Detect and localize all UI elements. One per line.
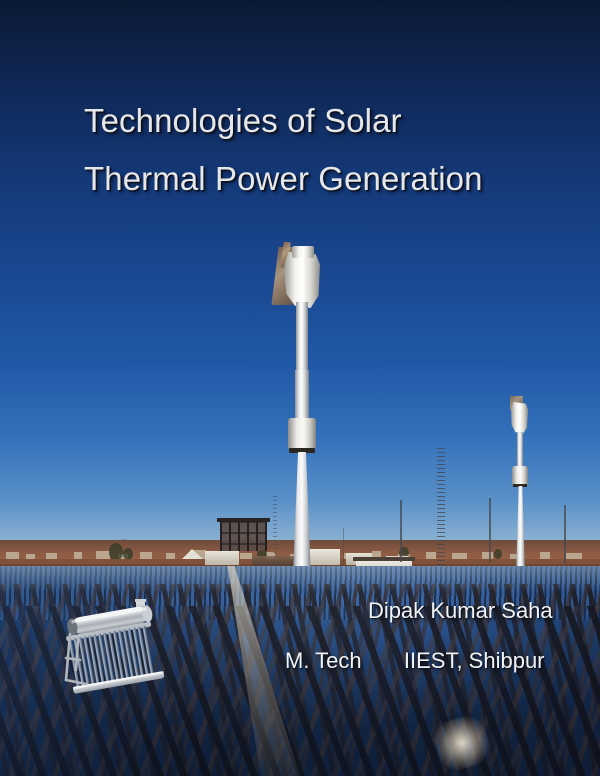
author-degree: M. Tech	[285, 648, 362, 673]
utility-pole-1	[400, 500, 402, 562]
author-institution: IIEST, Shibpur	[404, 648, 545, 673]
author-name: Dipak Kumar Saha	[368, 598, 553, 624]
tower-mast-mid	[295, 374, 309, 420]
utility-pole-2	[489, 498, 491, 562]
author-affiliation: M. Tech IIEST, Shibpur	[285, 648, 545, 674]
cover-title-line-2: Thermal Power Generation	[84, 160, 483, 198]
tower2-receiver-head	[511, 402, 528, 434]
tower-mast-upper	[296, 302, 308, 374]
utility-pole-4	[343, 528, 344, 562]
solar-receiver-tower-secondary	[502, 396, 542, 574]
tower-mast-lower	[293, 452, 311, 576]
tower-receiver-upper-cap	[292, 246, 314, 258]
tower2-mid-collar	[512, 466, 528, 486]
tower2-mast-upper	[517, 432, 523, 470]
cover-title-line-1: Technologies of Solar	[84, 102, 402, 140]
plant-building-left	[205, 551, 239, 565]
plant-steel-frame-structure	[220, 521, 267, 551]
solar-water-heater-illustration	[56, 598, 182, 704]
book-cover: Technologies of Solar Thermal Power Gene…	[0, 0, 600, 776]
tower2-mast-lower	[516, 486, 525, 574]
utility-pole-3	[564, 505, 566, 563]
tower-mid-collar	[288, 418, 316, 450]
solar-receiver-tower-main	[262, 240, 342, 576]
plant-shed-roof	[353, 557, 415, 561]
lattice-transmission-tower	[437, 448, 445, 570]
